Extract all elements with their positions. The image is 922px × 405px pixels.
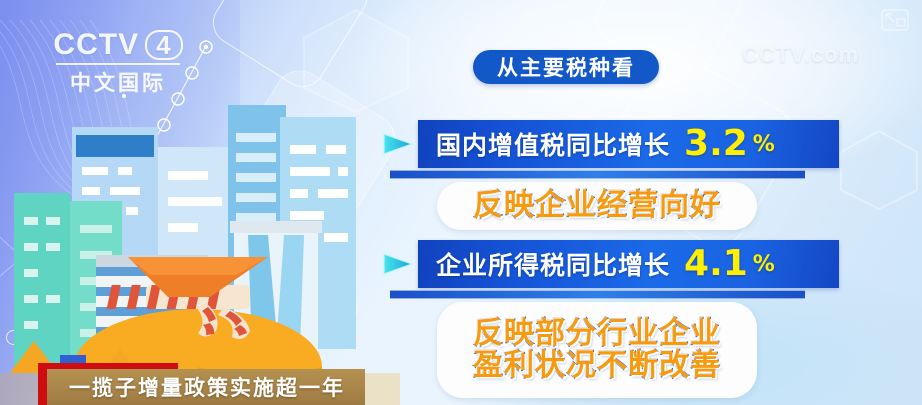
lower-third-headline: 一揽子增量政策实施超一年: [69, 372, 345, 402]
stat-underline-2: [390, 290, 805, 299]
media-frame-icon: [880, 8, 910, 32]
channel-logo-rule: [56, 63, 180, 65]
channel-logo: CCTV 4 中文国际: [48, 30, 188, 97]
city-illustration: [0, 105, 400, 405]
background-hexagon-2: [836, 128, 922, 212]
section-title-pill: 从主要税种看: [473, 50, 659, 84]
stat-label-1: 国内增值税同比增长: [436, 126, 670, 162]
stat-bar-2: 企业所得税同比增长 4.1 %: [418, 240, 839, 288]
play-arrow-icon: [382, 132, 416, 156]
stat-row-2: 企业所得税同比增长 4.1 %: [382, 240, 839, 288]
channel-logo-number: 4: [145, 30, 182, 60]
lower-third-bar: 一揽子增量政策实施超一年: [47, 369, 365, 405]
section-title-text: 从主要税种看: [497, 52, 635, 82]
stat-unit-2: %: [753, 252, 775, 277]
stat-value-2: 4.1: [684, 246, 748, 282]
channel-logo-subtitle: 中文国际: [48, 67, 188, 97]
note-text-2-line-1: 反映部分行业企业: [473, 318, 721, 350]
broadcast-frame: CCTV 4 中文国际: [0, 0, 922, 405]
play-arrow-icon: [382, 252, 416, 276]
stat-underline-1: [390, 170, 805, 179]
stat-row-1: 国内增值税同比增长 3.2 %: [382, 120, 839, 168]
note-text-1-line-1: 反映企业经营向好: [473, 190, 721, 222]
stat-bar-1: 国内增值税同比增长 3.2 %: [418, 120, 839, 168]
cctv-watermark: CCTV.com: [742, 42, 859, 68]
background-hexagon-1: [296, 6, 416, 116]
note-pill-1: 反映企业经营向好: [437, 182, 757, 230]
note-text-2-line-2: 盈利状况不断改善: [473, 350, 721, 382]
stat-unit-1: %: [753, 132, 775, 157]
channel-logo-mark: CCTV: [53, 30, 139, 60]
stat-value-1: 3.2: [684, 126, 748, 162]
note-pill-2: 反映部分行业企业 盈利状况不断改善: [437, 302, 757, 398]
stat-label-2: 企业所得税同比增长: [436, 246, 670, 282]
